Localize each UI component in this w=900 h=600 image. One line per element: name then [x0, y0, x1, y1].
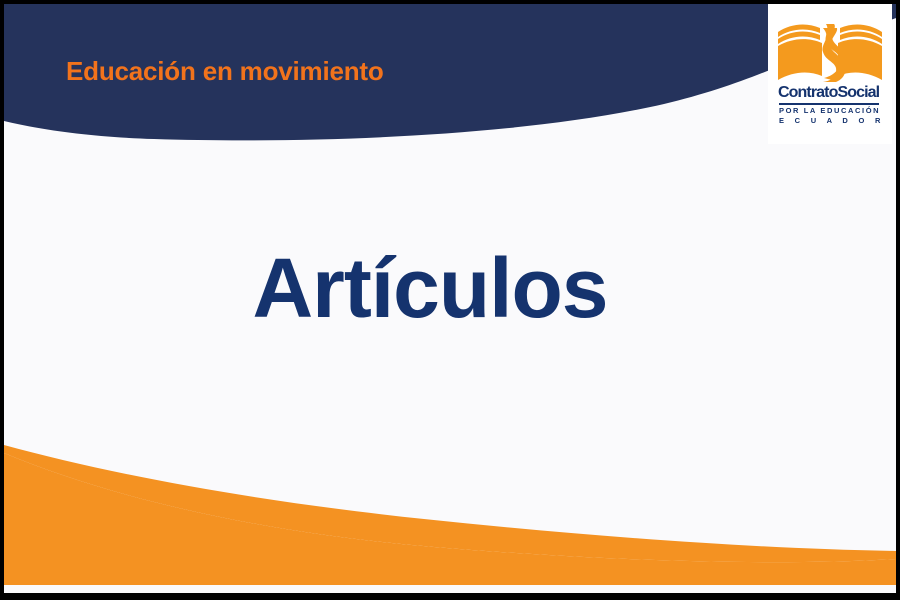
- slide-canvas: Educación en movimiento Artículos: [4, 4, 896, 593]
- logo-wordmark: ContratoSocial: [778, 85, 884, 101]
- title-container: Artículos: [4, 244, 896, 332]
- logo-divider: [779, 103, 879, 105]
- logo-subtitle-country: E C U A D O R: [779, 116, 883, 125]
- orange-swoosh-decoration: [4, 433, 896, 593]
- presentation-slide: Educación en movimiento Artículos: [0, 0, 900, 600]
- logo-subtitle-education: POR LA EDUCACIÓN: [779, 106, 883, 115]
- page-title: Artículos: [252, 244, 607, 332]
- contrato-social-logo: ContratoSocial POR LA EDUCACIÓN E C U A …: [768, 4, 892, 144]
- open-book-icon: [776, 18, 884, 84]
- slide-tagline: Educación en movimiento: [66, 56, 384, 87]
